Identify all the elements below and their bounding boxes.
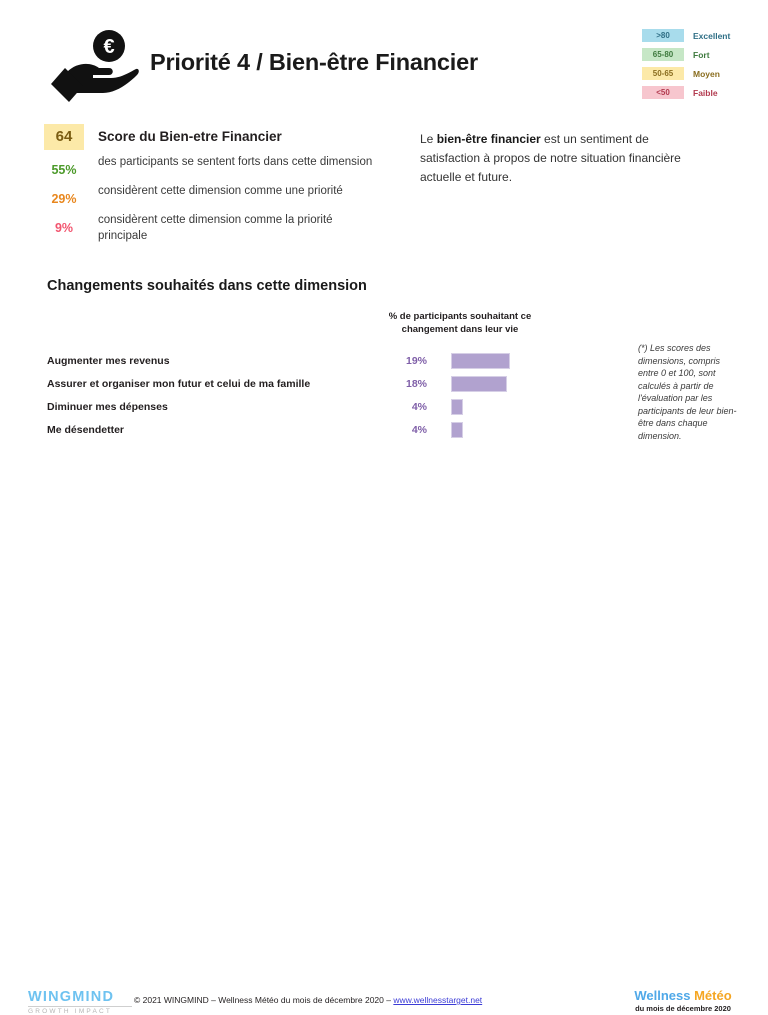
logo-divider <box>28 1006 132 1007</box>
table-row: Diminuer mes dépenses 4% <box>47 396 547 417</box>
changes-bar-chart: Augmenter mes revenus 19% Assurer et org… <box>47 350 547 442</box>
wingmind-logo: WINGMIND GROWTH IMPACT <box>28 990 138 1015</box>
legend-item-excellent: >80 Excellent <box>642 28 750 43</box>
chart-category-label: Diminuer mes dépenses <box>47 401 377 413</box>
stat-description: considèrent cette dimension comme une pr… <box>98 183 343 199</box>
legend-chip-range: <50 <box>642 86 684 99</box>
score-summary: 64 Score du Bien-etre Financier 55% des … <box>44 124 404 250</box>
score-headline-row: 64 Score du Bien-etre Financier <box>44 124 404 150</box>
chart-category-label: Me désendetter <box>47 424 377 436</box>
legend-label: Faible <box>693 88 718 98</box>
wingmind-tagline: GROWTH IMPACT <box>28 1008 138 1015</box>
definition-bold-term: bien-être financier <box>437 132 541 146</box>
hand-holding-euro-icon: € <box>47 28 139 102</box>
chart-value-label: 4% <box>377 424 427 436</box>
brand-word-meteo: Météo <box>694 988 732 1003</box>
page-title: Priorité 4 / Bien-être Financier <box>150 49 478 76</box>
legend-label: Moyen <box>693 69 720 79</box>
chart-bar-track <box>451 399 547 415</box>
svg-text:€: € <box>103 36 114 58</box>
legend-label: Excellent <box>693 31 730 41</box>
stat-percent: 29% <box>44 183 84 206</box>
legend-chip-range: >80 <box>642 29 684 42</box>
score-badge: 64 <box>44 124 84 150</box>
chart-column-header: % de participants souhaitant ce changeme… <box>360 310 560 336</box>
chart-value-label: 18% <box>377 378 427 390</box>
chart-bar-track <box>451 376 547 392</box>
legend-item-moyen: 50-65 Moyen <box>642 66 750 81</box>
dimension-definition: Le bien-être financier est un sentiment … <box>420 130 700 187</box>
wellness-meteo-title: Wellness Météo <box>618 988 748 1003</box>
brand-word-wellness: Wellness <box>634 988 690 1003</box>
table-row: Augmenter mes revenus 19% <box>47 350 547 371</box>
stat-row-main-priority: 9% considèrent cette dimension comme la … <box>44 212 404 244</box>
wellness-meteo-subtitle: du mois de décembre 2020 <box>618 1004 748 1013</box>
chart-bar-track <box>451 422 547 438</box>
legend-item-faible: <50 Faible <box>642 85 750 100</box>
wingmind-logo-text: WINGMIND <box>28 990 138 1005</box>
website-link[interactable]: www.wellnesstarget.net <box>393 995 482 1005</box>
chart-bar <box>451 399 463 415</box>
stat-description: des participants se sentent forts dans c… <box>98 154 372 170</box>
legend-item-fort: 65-80 Fort <box>642 47 750 62</box>
copyright-line: © 2021 WINGMIND – Wellness Météo du mois… <box>134 995 482 1005</box>
stat-row-strong: 55% des participants se sentent forts da… <box>44 154 404 177</box>
legend-label: Fort <box>693 50 710 60</box>
chart-bar <box>451 422 463 438</box>
chart-bar-track <box>451 353 547 369</box>
chart-category-label: Assurer et organiser mon futur et celui … <box>47 378 377 390</box>
chart-category-label: Augmenter mes revenus <box>47 355 377 367</box>
stat-row-priority: 29% considèrent cette dimension comme un… <box>44 183 404 206</box>
definition-prefix: Le <box>420 132 437 146</box>
table-row: Assurer et organiser mon futur et celui … <box>47 373 547 394</box>
page-footer: WINGMIND GROWTH IMPACT © 2021 WINGMIND –… <box>0 490 768 532</box>
chart-value-label: 19% <box>377 355 427 367</box>
table-row: Me désendetter 4% <box>47 419 547 440</box>
chart-bar <box>451 353 510 369</box>
score-footnote: (*) Les scores des dimensions, compris e… <box>638 342 742 442</box>
legend-chip-range: 65-80 <box>642 48 684 61</box>
copyright-text: © 2021 WINGMIND – Wellness Météo du mois… <box>134 995 393 1005</box>
stat-description: considèrent cette dimension comme la pri… <box>98 212 378 244</box>
score-title: Score du Bien-etre Financier <box>98 124 282 150</box>
wellness-meteo-brand: Wellness Météo du mois de décembre 2020 <box>618 988 748 1013</box>
changes-section-title: Changements souhaités dans cette dimensi… <box>47 278 367 294</box>
score-legend: >80 Excellent 65-80 Fort 50-65 Moyen <50… <box>642 28 750 104</box>
chart-bar <box>451 376 507 392</box>
legend-chip-range: 50-65 <box>642 67 684 80</box>
chart-value-label: 4% <box>377 401 427 413</box>
page-header: € Priorité 4 / Bien-être Financier >80 E… <box>0 0 768 112</box>
stat-percent: 55% <box>44 154 84 177</box>
stat-percent: 9% <box>44 212 84 235</box>
